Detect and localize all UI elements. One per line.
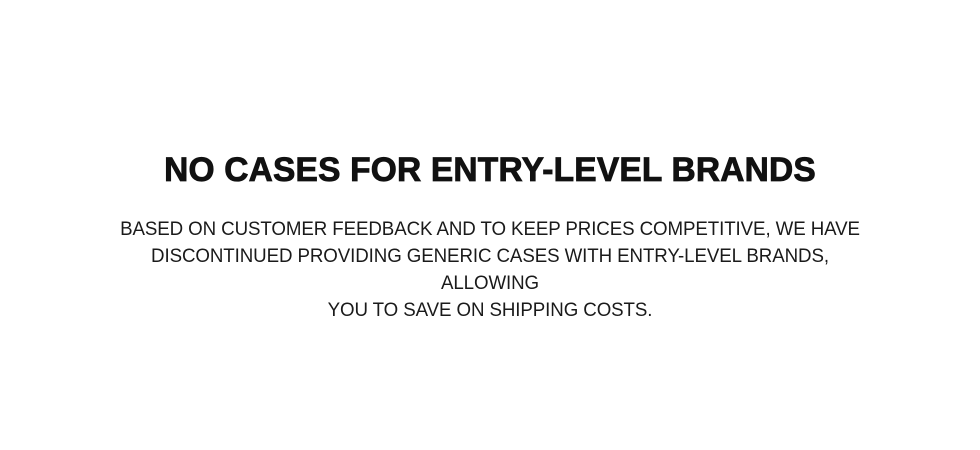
announcement-section: NO CASES FOR ENTRY-LEVEL BRANDS BASED ON… [0,0,980,450]
announcement-body-line-1: BASED ON CUSTOMER FEEDBACK AND TO KEEP P… [106,216,874,243]
announcement-body-text: BASED ON CUSTOMER FEEDBACK AND TO KEEP P… [106,216,874,324]
page-title: NO CASES FOR ENTRY-LEVEL BRANDS [57,150,924,190]
announcement-body-line-2: DISCONTINUED PROVIDING GENERIC CASES WIT… [106,243,874,297]
announcement-body-line-3: YOU TO SAVE ON SHIPPING COSTS. [106,297,874,324]
